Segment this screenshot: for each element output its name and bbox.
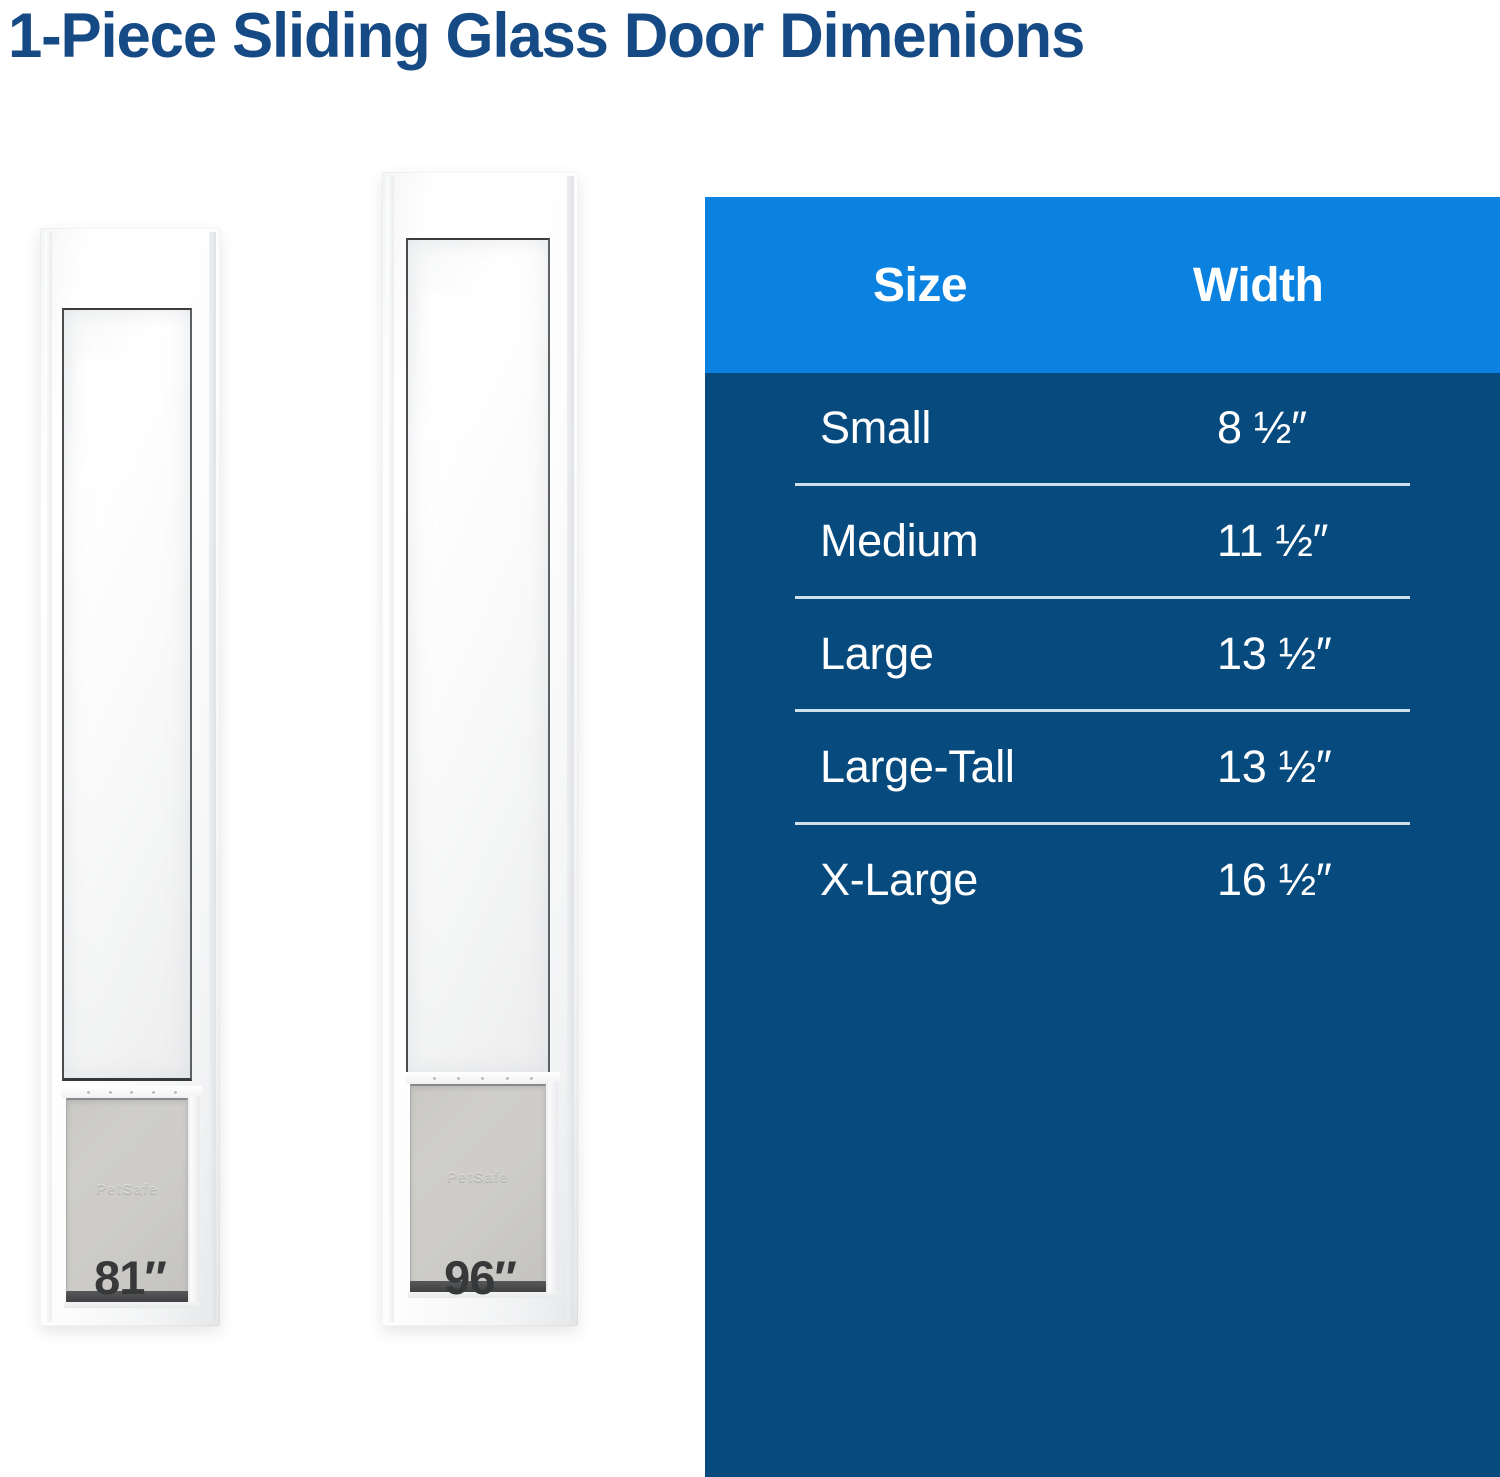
flap-logo-96: PetSafe (411, 1169, 545, 1186)
screw-icon (530, 1077, 533, 1080)
screw-icon (130, 1091, 133, 1094)
table-row: Large 13 ½″ (705, 599, 1500, 709)
door-caption-81: 81″ (40, 1250, 220, 1305)
screw-icon (174, 1091, 177, 1094)
table-row: Small 8 ½″ (705, 373, 1500, 483)
door-panel-96: PetSafe (382, 172, 578, 1326)
flap-logo-81: PetSafe (67, 1181, 187, 1198)
cell-size: Large-Tall (820, 741, 1015, 793)
cell-size: Large (820, 628, 934, 680)
screw-icon (506, 1077, 509, 1080)
flap-top-rail-96 (406, 1072, 560, 1084)
cell-size: Medium (820, 515, 978, 567)
screw-icon (457, 1077, 460, 1080)
size-chart-panel: Size Width Small 8 ½″ Medium 11 ½″ Large… (705, 197, 1500, 1477)
cell-width: 8 ½″ (1217, 402, 1307, 454)
door-caption-96: 96″ (382, 1250, 578, 1305)
size-chart-rows: Small 8 ½″ Medium 11 ½″ Large 13 ½″ Larg… (705, 373, 1500, 935)
screw-icon (87, 1091, 90, 1094)
column-header-width: Width (1193, 258, 1323, 313)
table-row: Large-Tall 13 ½″ (705, 712, 1500, 822)
door-panel-81: PetSafe (40, 228, 220, 1326)
table-row: Medium 11 ½″ (705, 486, 1500, 596)
cell-size: Small (820, 402, 931, 454)
screw-icon (481, 1077, 484, 1080)
door-illustrations: PetSafe 81″ PetSafe 96″ (0, 100, 700, 1430)
table-row: X-Large 16 ½″ (705, 825, 1500, 935)
door-glass-81 (62, 308, 192, 1081)
flap-top-rail-81 (62, 1086, 202, 1098)
screw-icon (109, 1091, 112, 1094)
column-header-size: Size (873, 258, 967, 313)
screw-icon (152, 1091, 155, 1094)
cell-width: 16 ½″ (1217, 854, 1332, 906)
screw-icon (433, 1077, 436, 1080)
door-glass-96 (406, 238, 550, 1076)
page-title: 1-Piece Sliding Glass Door Dimenions (8, 2, 1439, 71)
cell-size: X-Large (820, 854, 978, 906)
size-chart-header-row: Size Width (705, 197, 1500, 373)
cell-width: 13 ½″ (1217, 628, 1332, 680)
cell-width: 13 ½″ (1217, 741, 1332, 793)
cell-width: 11 ½″ (1217, 515, 1328, 567)
